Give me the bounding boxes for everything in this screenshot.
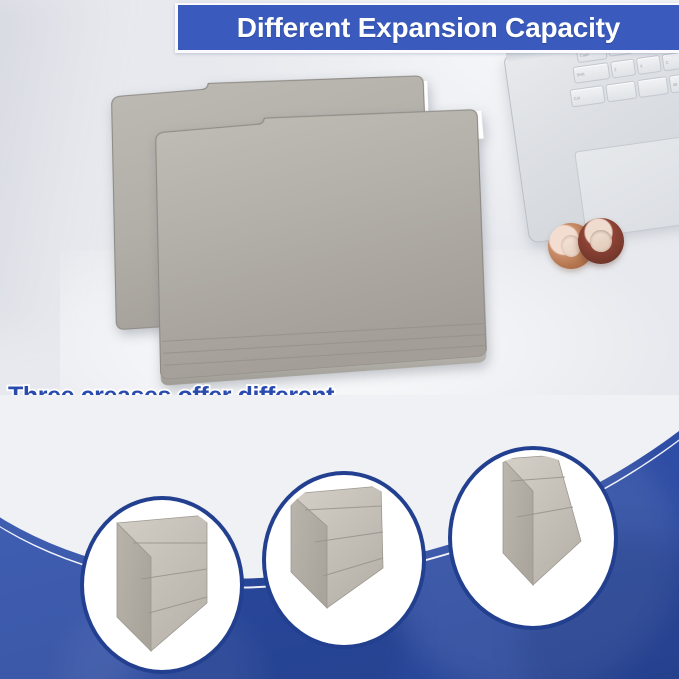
- crease-detail-3-illustration: [457, 455, 609, 621]
- folder-stack: [100, 78, 520, 408]
- crease-detail-2-illustration: [271, 480, 417, 640]
- laptop-key: C: [661, 51, 679, 71]
- crease-detail-1-inner: [89, 505, 235, 665]
- laptop-key: [637, 76, 669, 98]
- folder-front: [143, 98, 497, 395]
- crease-detail-2-inner: [271, 480, 417, 640]
- crease-detail-1-illustration: [89, 505, 235, 665]
- laptop-key: Ctrl: [569, 85, 605, 108]
- crease-detail-3-inner: [457, 455, 609, 621]
- title-banner: Different Expansion Capacity: [175, 3, 679, 53]
- laptop-key: X: [636, 55, 662, 75]
- crease-detail-1: [84, 500, 240, 670]
- crease-detail-2: [266, 475, 422, 645]
- page-title: Different Expansion Capacity: [237, 12, 620, 44]
- product-infographic: CapsF1ShiftZXCVCtrlAlt: [0, 0, 679, 679]
- laptop-key: Shift: [572, 62, 610, 84]
- laptop-key: Z: [610, 58, 636, 78]
- crease-detail-3: [452, 450, 614, 626]
- laptop-body: CapsF1ShiftZXCVCtrlAlt: [503, 26, 679, 244]
- laptop-key: [605, 80, 637, 102]
- laptop-key: Alt: [669, 72, 679, 93]
